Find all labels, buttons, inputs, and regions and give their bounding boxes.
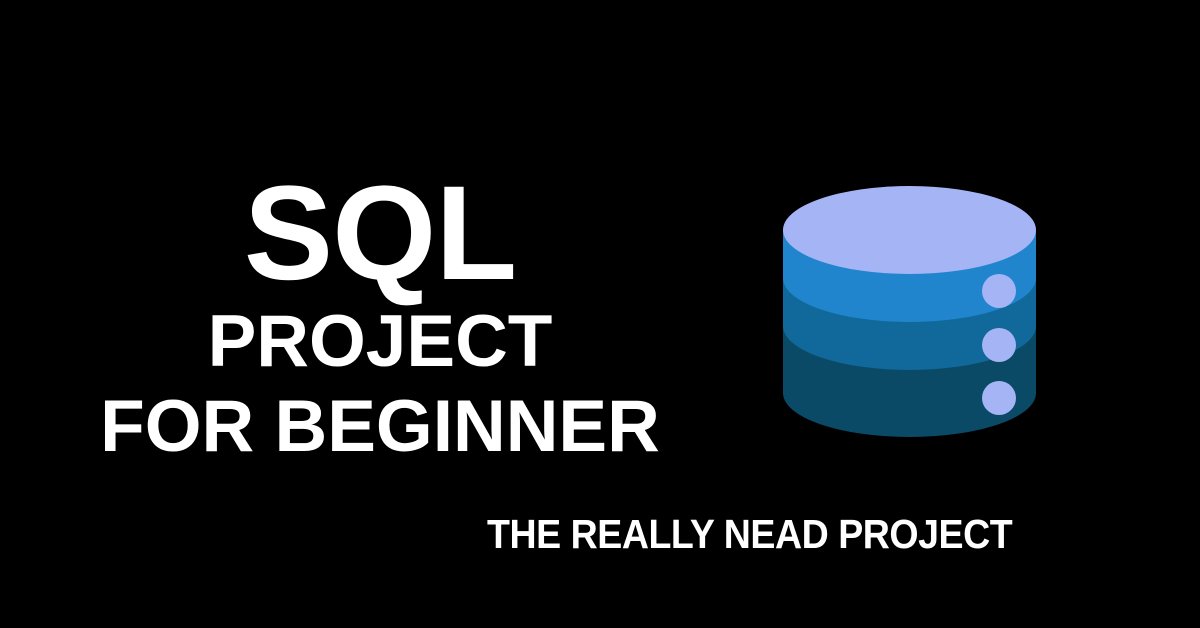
- title-line-for-beginner: FOR BEGINNER: [0, 390, 760, 464]
- db-top-disc: [783, 186, 1036, 274]
- db-indicator-dot-1: [982, 274, 1016, 308]
- title-line-project: PROJECT: [0, 305, 760, 379]
- database-cylinder-icon: [783, 186, 1036, 439]
- title-line-sql: SQL: [0, 168, 760, 299]
- banner-canvas: SQL PROJECT FOR BEGINNER THE REALLY NEAD…: [0, 0, 1200, 628]
- db-indicator-dot-2: [982, 328, 1016, 362]
- headline-group: SQL PROJECT FOR BEGINNER: [0, 168, 760, 464]
- db-indicator-dot-3: [982, 381, 1016, 415]
- tagline: THE REALLY NEAD PROJECT: [487, 514, 1012, 555]
